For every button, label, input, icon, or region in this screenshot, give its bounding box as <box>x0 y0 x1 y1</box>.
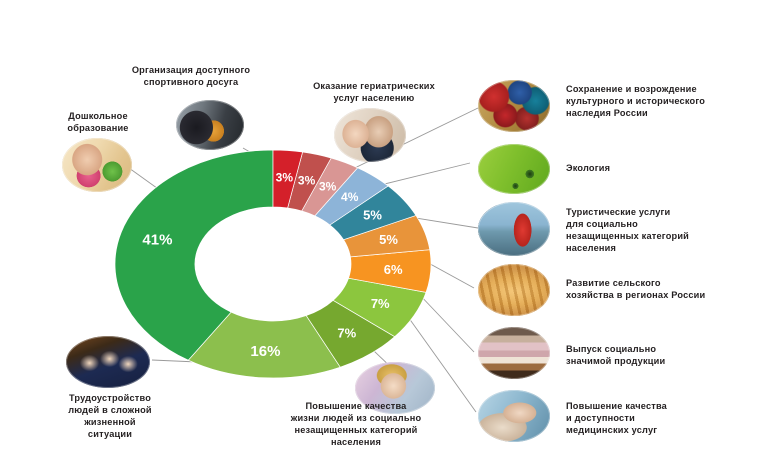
callout-eco: Экология <box>566 162 706 174</box>
callout-geriatric: Оказание гериатрических услуг населению <box>276 80 472 104</box>
callout-quality: Повышение качества жизни людей из социал… <box>248 400 464 448</box>
culture-heritage-photo[interactable] <box>478 80 550 132</box>
callout-tourism-label: Туристические услуги для социально незащ… <box>566 206 756 254</box>
donut-chart: 41%16%7%7%6%5%5%4%3%3%3% <box>112 148 434 380</box>
employment-photo[interactable] <box>66 336 150 388</box>
donut-slice-label: 3% <box>319 179 337 193</box>
callout-product: Выпуск социально значимой продукции <box>566 343 756 367</box>
preschool-photo[interactable] <box>62 138 132 192</box>
product-photo-ring <box>478 327 550 379</box>
tourism-photo[interactable] <box>478 202 550 256</box>
callout-product-label: Выпуск социально значимой продукции <box>566 343 756 367</box>
callout-geriatric-label: Оказание гериатрических услуг населению <box>276 80 472 104</box>
geriatric-photo-ring <box>334 108 406 162</box>
agri-photo-ring <box>478 264 550 316</box>
medical-photo-ring <box>478 390 550 442</box>
donut-slice-label: 41% <box>142 232 172 249</box>
eco-photo-ring <box>478 144 550 194</box>
geriatric-care-photo[interactable] <box>334 108 406 162</box>
callout-preschool: Дошкольное образование <box>38 110 158 134</box>
callout-employment: Трудоустройство людей в сложной жизненно… <box>40 392 180 440</box>
callout-quality-label: Повышение качества жизни людей из социал… <box>248 400 464 448</box>
tourism-photo-ring <box>478 202 550 256</box>
medical-photo[interactable] <box>478 390 550 442</box>
donut-slice-label: 7% <box>371 296 390 311</box>
ecology-leaf-photo[interactable] <box>478 144 550 194</box>
culture-photo-ring <box>478 80 550 132</box>
callout-preschool-label: Дошкольное образование <box>38 110 158 134</box>
callout-sport: Организация доступного спортивного досуг… <box>96 64 286 88</box>
employment-photo-ring <box>66 336 150 388</box>
donut-slice-label: 16% <box>250 343 280 360</box>
agriculture-bread-photo[interactable] <box>478 264 550 316</box>
donut-slice-label: 4% <box>341 190 359 204</box>
callout-agri-label: Развитие сельского хозяйства в регионах … <box>566 277 762 301</box>
callout-eco-label: Экология <box>566 162 706 174</box>
donut-slice-label: 3% <box>276 170 294 184</box>
product-factory-photo[interactable] <box>478 327 550 379</box>
callout-tourism: Туристические услуги для социально незащ… <box>566 206 756 254</box>
donut-chart-svg: 41%16%7%7%6%5%5%4%3%3%3% <box>112 148 434 380</box>
callout-medical: Повышение качества и доступности медицин… <box>566 400 756 436</box>
callout-employment-label: Трудоустройство людей в сложной жизненно… <box>40 392 180 440</box>
donut-slice-label: 6% <box>384 262 403 277</box>
callout-culture: Сохранение и возрождение культурного и и… <box>566 83 766 119</box>
infographic-root: 41%16%7%7%6%5%5%4%3%3%3% Организация дос… <box>0 0 767 453</box>
donut-slice-label: 7% <box>337 325 356 340</box>
callout-agri: Развитие сельского хозяйства в регионах … <box>566 277 762 301</box>
callout-sport-label: Организация доступного спортивного досуг… <box>96 64 286 88</box>
sport-photo-ring <box>176 100 244 150</box>
sport-photo[interactable] <box>176 100 244 150</box>
donut-slice-label: 5% <box>363 207 382 222</box>
callout-culture-label: Сохранение и возрождение культурного и и… <box>566 83 766 119</box>
preschool-photo-ring <box>62 138 132 192</box>
callout-medical-label: Повышение качества и доступности медицин… <box>566 400 756 436</box>
donut-slice-label: 3% <box>298 173 316 187</box>
donut-slice-label: 5% <box>379 232 398 247</box>
